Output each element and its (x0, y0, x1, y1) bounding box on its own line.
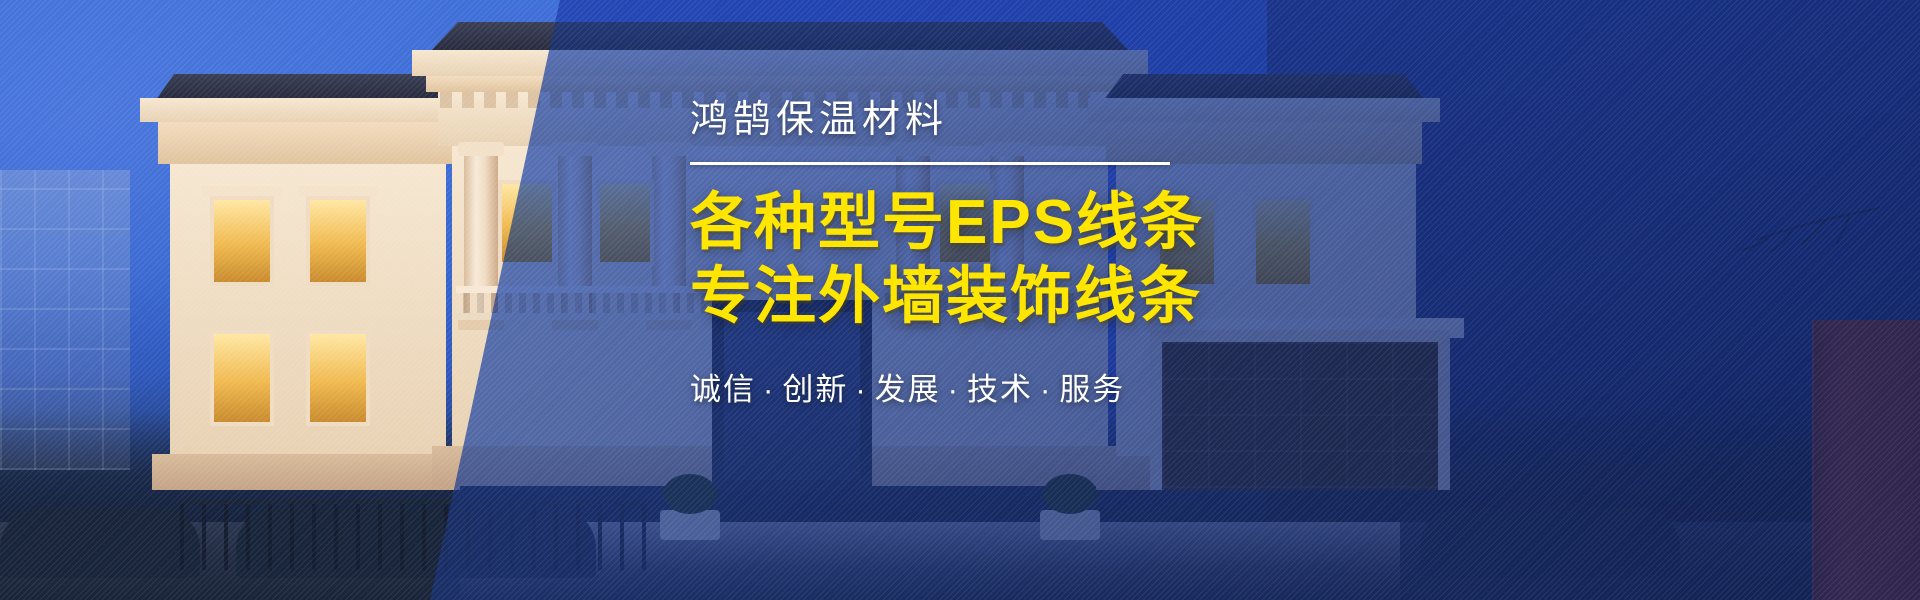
banner-copy: 鸿鹄保温材料 各种型号EPS线条 专注外墙装饰线条 诚信·创新·发展·技术·服务 (690, 98, 1390, 409)
window (306, 330, 370, 426)
left-wing-base (152, 454, 460, 490)
tagline-item: 诚信 (690, 372, 756, 407)
window (210, 330, 274, 426)
tagline-item: 发展 (875, 372, 941, 407)
tagline-separator: · (848, 372, 874, 407)
window-header (202, 186, 282, 196)
window (306, 196, 370, 286)
tagline-item: 服务 (1059, 372, 1125, 407)
promo-banner: 鸿鹄保温材料 各种型号EPS线条 专注外墙装饰线条 诚信·创新·发展·技术·服务 (0, 0, 1920, 600)
divider (690, 162, 1170, 165)
window-header (298, 186, 378, 196)
tagline-separator: · (1033, 372, 1059, 407)
tagline-separator: · (756, 372, 782, 407)
headline-line-1: 各种型号EPS线条 (690, 187, 1390, 260)
tagline-item: 创新 (782, 372, 848, 407)
left-wing-entablature (158, 122, 454, 164)
tagline-item: 技术 (967, 372, 1033, 407)
left-wing-roof (156, 74, 456, 100)
left-wing-cornice (140, 98, 470, 122)
tagline: 诚信·创新·发展·技术·服务 (690, 364, 1390, 409)
tagline-separator: · (941, 372, 967, 407)
column-capital (458, 142, 504, 156)
brand-name: 鸿鹄保温材料 (690, 98, 1390, 144)
window (210, 196, 274, 286)
headline-line-2: 专注外墙装饰线条 (690, 261, 1390, 334)
hedge (0, 508, 200, 578)
